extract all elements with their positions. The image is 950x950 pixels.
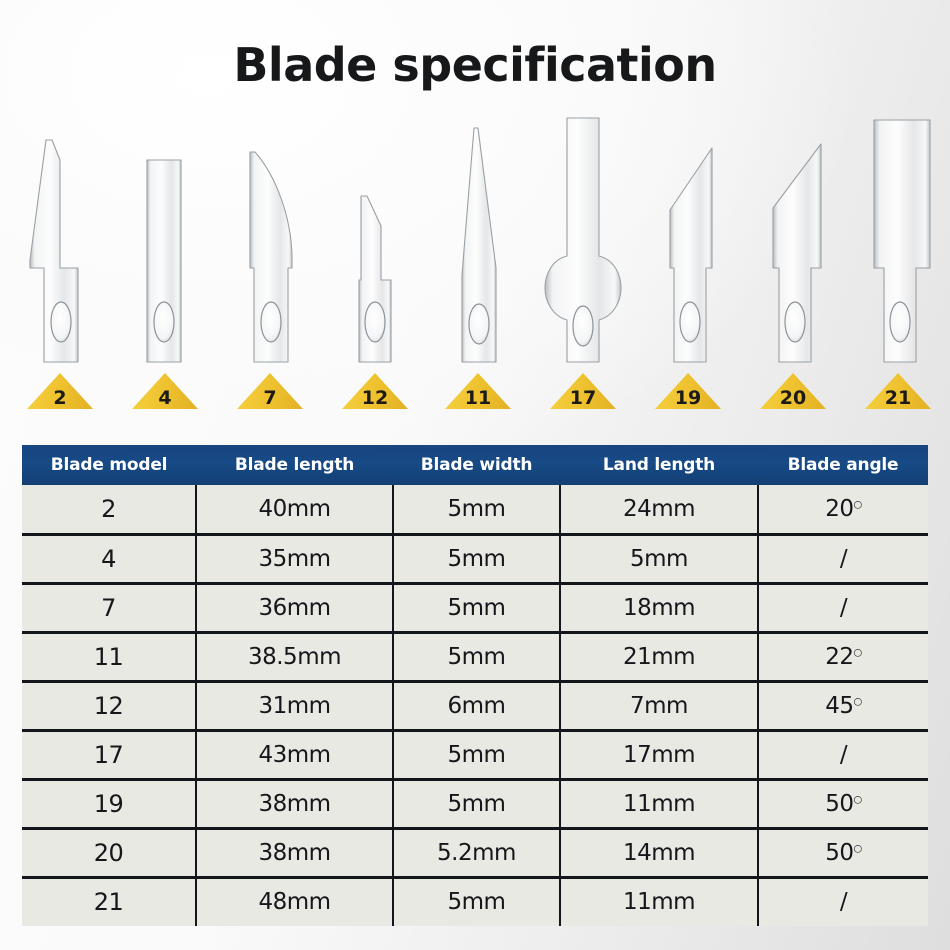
cell-blade-length: 35mm: [196, 534, 393, 583]
cell-land-length: 21mm: [560, 632, 758, 681]
cell-blade-length: 38.5mm: [196, 632, 393, 681]
column-header-blade-width: Blade width: [393, 445, 560, 485]
cell-blade-length: 38mm: [196, 828, 393, 877]
blade-marker-20: 20: [760, 373, 826, 409]
table-row: 1938mm5mm11mm50○: [22, 779, 928, 828]
table-row: 1231mm6mm7mm45○: [22, 681, 928, 730]
blade-17: [523, 100, 643, 375]
cell-blade-width: 5mm: [393, 730, 560, 779]
blade-marker-label: 7: [237, 389, 303, 408]
table-header: Blade model Blade length Blade width Lan…: [22, 445, 928, 485]
cell-land-length: 7mm: [560, 681, 758, 730]
blade-12: [315, 100, 435, 375]
blade-4: [105, 100, 225, 375]
mounting-slot: [154, 302, 174, 342]
cell-blade-angle: 22○: [758, 632, 928, 681]
cell-blade-length: 43mm: [196, 730, 393, 779]
blade-11: [418, 100, 538, 375]
cell-blade-width: 5mm: [393, 632, 560, 681]
cell-land-length: 18mm: [560, 583, 758, 632]
blade-angle-value: 50: [825, 791, 853, 817]
degree-icon: ○: [854, 499, 862, 510]
blade-marker-21: 21: [865, 373, 931, 409]
cell-blade-angle: /: [758, 730, 928, 779]
degree-icon: ○: [854, 843, 862, 854]
blade-marker-17: 17: [550, 373, 616, 409]
blade-marker-11: 11: [445, 373, 511, 409]
cell-blade-angle: /: [758, 583, 928, 632]
cell-blade-model: 11: [22, 632, 196, 681]
column-header-blade-angle: Blade angle: [758, 445, 928, 485]
column-header-blade-model: Blade model: [22, 445, 196, 485]
blade-marker-label: 21: [865, 389, 931, 408]
cell-blade-model: 2: [22, 485, 196, 534]
page-title: Blade specification: [0, 38, 950, 92]
blade-angle-value: 20: [825, 496, 853, 522]
table-row: 240mm5mm24mm20○: [22, 485, 928, 534]
degree-icon: ○: [854, 696, 862, 707]
blade-marker-2: 2: [27, 373, 93, 409]
table-header-row: Blade model Blade length Blade width Lan…: [22, 445, 928, 485]
table-row: 435mm5mm5mm/: [22, 534, 928, 583]
blade-marker-label: 2: [27, 389, 93, 408]
cell-land-length: 5mm: [560, 534, 758, 583]
blade-20: [733, 100, 853, 375]
table-body: 240mm5mm24mm20○435mm5mm5mm/736mm5mm18mm/…: [22, 485, 928, 926]
cell-blade-model: 17: [22, 730, 196, 779]
mounting-slot: [890, 302, 910, 342]
blade-marker-label: 4: [132, 389, 198, 408]
blade-marker-label: 17: [550, 389, 616, 408]
blade-marker-19: 19: [655, 373, 721, 409]
blade-specification-page: Blade specification 247121117192021 Blad…: [0, 0, 950, 950]
cell-land-length: 24mm: [560, 485, 758, 534]
blade-7: [210, 100, 330, 375]
cell-blade-model: 21: [22, 877, 196, 926]
cell-blade-length: 31mm: [196, 681, 393, 730]
cell-blade-width: 6mm: [393, 681, 560, 730]
table-row: 2148mm5mm11mm/: [22, 877, 928, 926]
cell-land-length: 11mm: [560, 877, 758, 926]
table-row: 736mm5mm18mm/: [22, 583, 928, 632]
cell-blade-length: 48mm: [196, 877, 393, 926]
cell-blade-model: 7: [22, 583, 196, 632]
mounting-slot: [261, 302, 281, 342]
blade-19: [628, 100, 748, 375]
cell-blade-width: 5mm: [393, 583, 560, 632]
cell-blade-angle: 50○: [758, 779, 928, 828]
blade-marker-label: 12: [342, 389, 408, 408]
cell-blade-width: 5mm: [393, 877, 560, 926]
cell-blade-width: 5mm: [393, 485, 560, 534]
cell-blade-model: 12: [22, 681, 196, 730]
cell-blade-length: 40mm: [196, 485, 393, 534]
blade-marker-label: 20: [760, 389, 826, 408]
mounting-slot: [469, 304, 489, 344]
blade-2: [0, 100, 120, 375]
blade-illustration-row: [0, 100, 950, 375]
column-header-land-length: Land length: [560, 445, 758, 485]
table-row: 1138.5mm5mm21mm22○: [22, 632, 928, 681]
blade-marker-12: 12: [342, 373, 408, 409]
blade-specification-table: Blade model Blade length Blade width Lan…: [22, 445, 928, 926]
cell-blade-width: 5mm: [393, 534, 560, 583]
cell-blade-angle: /: [758, 877, 928, 926]
degree-icon: ○: [854, 794, 862, 805]
blade-angle-value: 45: [825, 693, 853, 719]
cell-blade-angle: 45○: [758, 681, 928, 730]
cell-land-length: 17mm: [560, 730, 758, 779]
blade-marker-row: 247121117192021: [0, 373, 950, 413]
cell-blade-length: 38mm: [196, 779, 393, 828]
blade-marker-7: 7: [237, 373, 303, 409]
mounting-slot: [365, 302, 385, 342]
blade-21: [838, 100, 950, 375]
cell-blade-width: 5.2mm: [393, 828, 560, 877]
cell-blade-angle: 20○: [758, 485, 928, 534]
mounting-slot: [680, 302, 700, 342]
mounting-slot: [785, 302, 805, 342]
cell-blade-model: 19: [22, 779, 196, 828]
mounting-slot: [51, 302, 71, 342]
blade-marker-label: 19: [655, 389, 721, 408]
cell-land-length: 11mm: [560, 779, 758, 828]
blade-marker-4: 4: [132, 373, 198, 409]
cell-blade-width: 5mm: [393, 779, 560, 828]
cell-blade-angle: 50○: [758, 828, 928, 877]
cell-blade-model: 20: [22, 828, 196, 877]
cell-blade-length: 36mm: [196, 583, 393, 632]
blade-angle-value: 50: [825, 840, 853, 866]
table-row: 1743mm5mm17mm/: [22, 730, 928, 779]
blade-angle-value: 22: [825, 644, 853, 670]
cell-land-length: 14mm: [560, 828, 758, 877]
cell-blade-angle: /: [758, 534, 928, 583]
degree-icon: ○: [854, 647, 862, 658]
table-row: 2038mm5.2mm14mm50○: [22, 828, 928, 877]
mounting-slot: [573, 306, 593, 346]
cell-blade-model: 4: [22, 534, 196, 583]
column-header-blade-length: Blade length: [196, 445, 393, 485]
blade-marker-label: 11: [445, 389, 511, 408]
